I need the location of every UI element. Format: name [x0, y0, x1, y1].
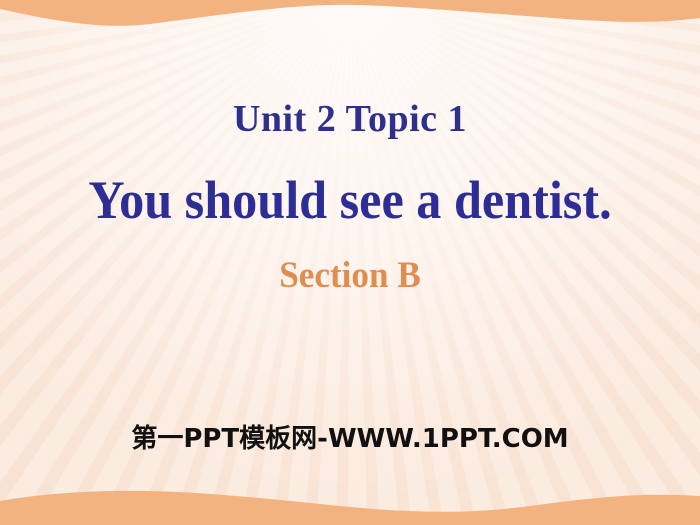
slide-content: Unit 2 Topic 1 You should see a dentist.…: [0, 0, 700, 525]
footer-credit-watermark: 第一PPT模板网-WWW.1PPT.COM: [0, 418, 700, 455]
section-subheading: Section B: [18, 256, 683, 297]
page-title: You should see a dentist.: [25, 172, 676, 229]
unit-topic-heading: Unit 2 Topic 1: [0, 99, 700, 141]
title-slide: Unit 2 Topic 1 You should see a dentist.…: [0, 0, 700, 525]
